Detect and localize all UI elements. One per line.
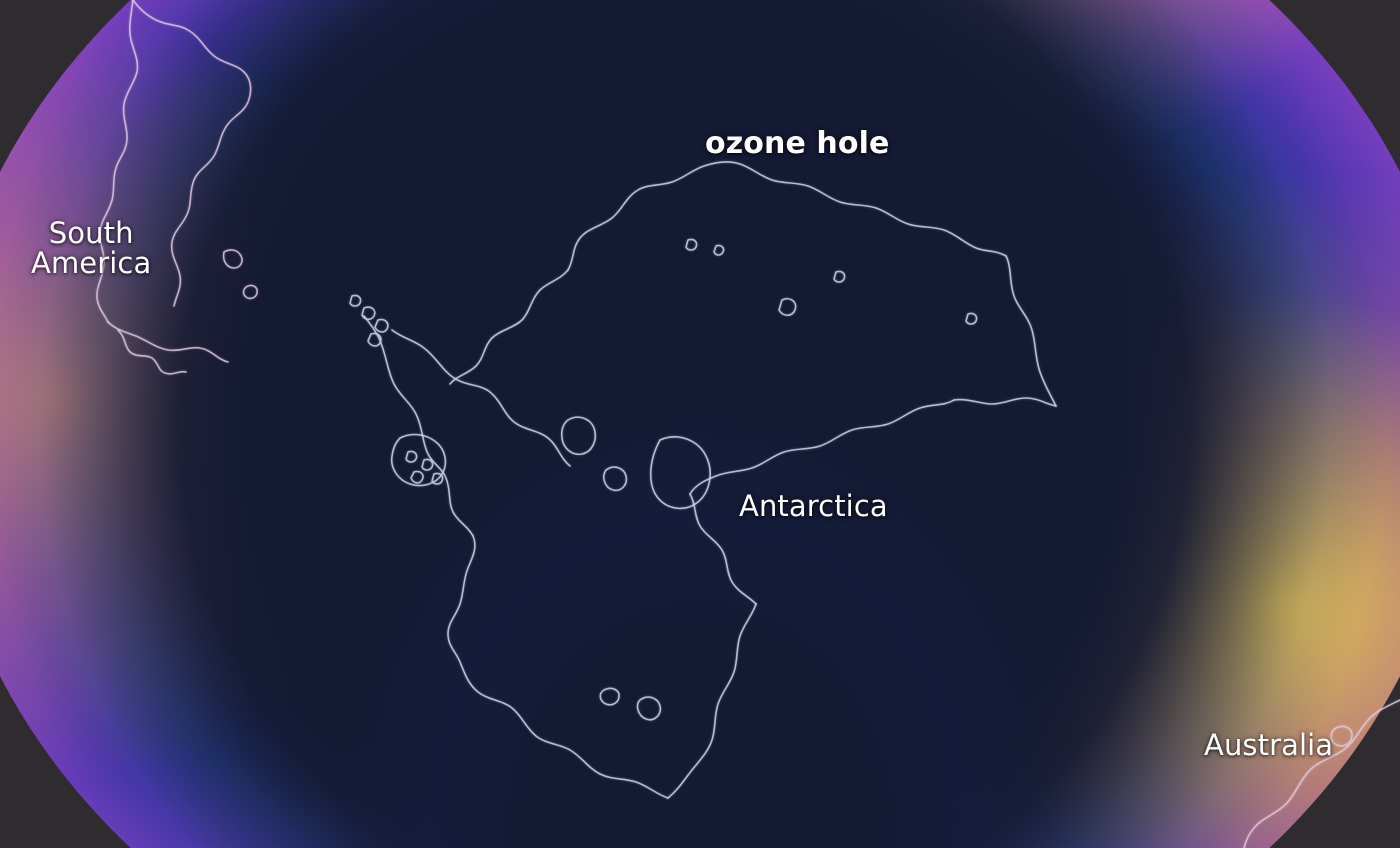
map-label-antarctica: Antarctica (739, 489, 888, 523)
coastline-small-island-2 (422, 459, 433, 470)
coastline-antarctic-peninsula-east (392, 330, 570, 466)
coastline-islet-4 (779, 299, 796, 316)
coastline-islet-2 (714, 245, 724, 255)
globe-container (0, 0, 1400, 848)
coastline-islet-1 (686, 239, 697, 250)
coastline-peninsula-island-b (375, 320, 388, 332)
ozone-hole-map-view: ozone hole SouthAmerica Antarctica Austr… (0, 0, 1400, 848)
map-label-australia: Australia (1204, 728, 1333, 762)
coastline-berkner-island (562, 417, 596, 454)
coastline-australia-south (1244, 700, 1400, 848)
map-label-ozone-hole: ozone hole (705, 126, 889, 161)
coastline-antarctic-peninsula-west (364, 316, 473, 536)
coastline-overlay (0, 0, 1400, 848)
coastline-small-island-1 (406, 451, 417, 462)
coastline-small-island-3 (411, 472, 423, 483)
coastline-wilkes-land (954, 398, 1056, 406)
coastline-west-antarctica (448, 536, 668, 798)
coastline-islet-7 (600, 688, 619, 704)
coastline-south-georgia (244, 285, 258, 298)
coastline-south-shetland-islands (350, 295, 361, 306)
map-label-south-america-line1: South (49, 216, 134, 250)
coastline-ross-sea (668, 604, 756, 798)
coastline-inner-detail-a (604, 467, 627, 490)
coastline-east-antarctic-east (1006, 256, 1056, 406)
coastline-islet-3 (834, 271, 845, 282)
coastline-ross-island (651, 437, 710, 509)
coastline-alexander-island (392, 435, 446, 486)
coastline-tierra-del-fuego (118, 330, 186, 374)
coastline-patagonia-south (108, 322, 228, 362)
coastline-falklands (224, 250, 242, 268)
coastline-islet-6 (638, 697, 661, 720)
map-label-south-america: SouthAmerica (31, 218, 151, 278)
coastline-victoria-land (690, 400, 954, 494)
coastline-weddell-sea (450, 270, 568, 384)
coastline-peninsula-island-a (362, 307, 375, 319)
coastline-dronning-maud-land (568, 162, 1006, 270)
map-label-south-america-line2: America (31, 246, 151, 280)
coastline-islet-5 (966, 313, 977, 324)
coastline-tasmania (1331, 726, 1352, 745)
